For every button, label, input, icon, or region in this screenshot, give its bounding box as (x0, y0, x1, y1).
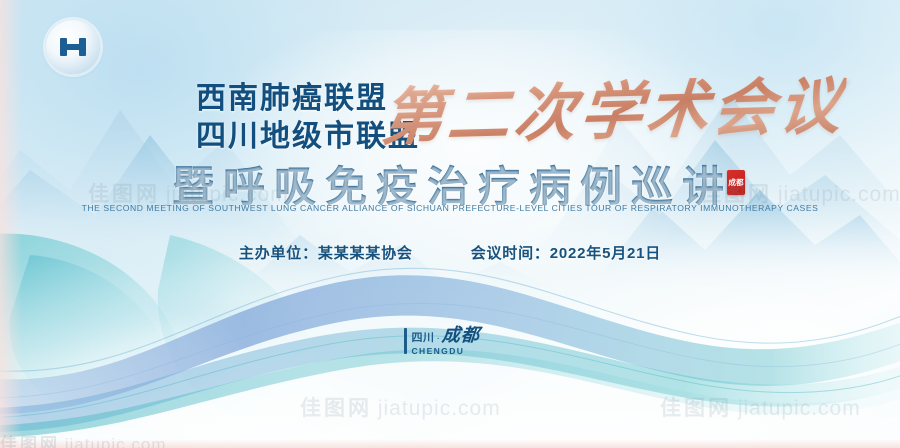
datetime-text: 会议时间：2022年5月21日 (471, 242, 661, 263)
meta-row: 主办单位：某某某某协会 会议时间：2022年5月21日 (0, 242, 900, 263)
logo-emblem-icon (60, 38, 86, 56)
organizer-text: 主办单位：某某某某协会 (239, 242, 413, 263)
badge-accent-bar (404, 328, 407, 354)
organization-logo[interactable] (44, 18, 102, 76)
red-seal-stamp: 成都 (727, 170, 745, 195)
calligraphy-title: 第二次学术会议 (378, 68, 847, 158)
headline-row-primary: 西南肺癌联盟 四川地级市联盟 第二次学术会议 (0, 76, 900, 168)
headline-block: 西南肺癌联盟 四川地级市联盟 第二次学术会议 暨呼吸免疫治疗病例巡讲 成都 TH… (0, 76, 900, 220)
mountain-backdrop (0, 0, 900, 448)
badge-content: 四川 · 成都 CHENGDU (412, 327, 480, 356)
badge-separator: · (437, 333, 440, 344)
badge-city-en: CHENGDU (412, 346, 480, 356)
subtitle-en: THE SECOND MEETING OF SOUTHWEST LUNG CAN… (0, 203, 900, 213)
badge-top-row: 四川 · 成都 (412, 327, 480, 345)
conference-banner: 西南肺癌联盟 四川地级市联盟 第二次学术会议 暨呼吸免疫治疗病例巡讲 成都 TH… (0, 0, 900, 448)
badge-province: 四川 (412, 329, 435, 345)
seal-text: 成都 (728, 178, 743, 187)
location-badge: 四川 · 成都 CHENGDU (404, 327, 480, 356)
badge-city: 成都 (441, 327, 480, 344)
logo-disc (46, 20, 100, 74)
